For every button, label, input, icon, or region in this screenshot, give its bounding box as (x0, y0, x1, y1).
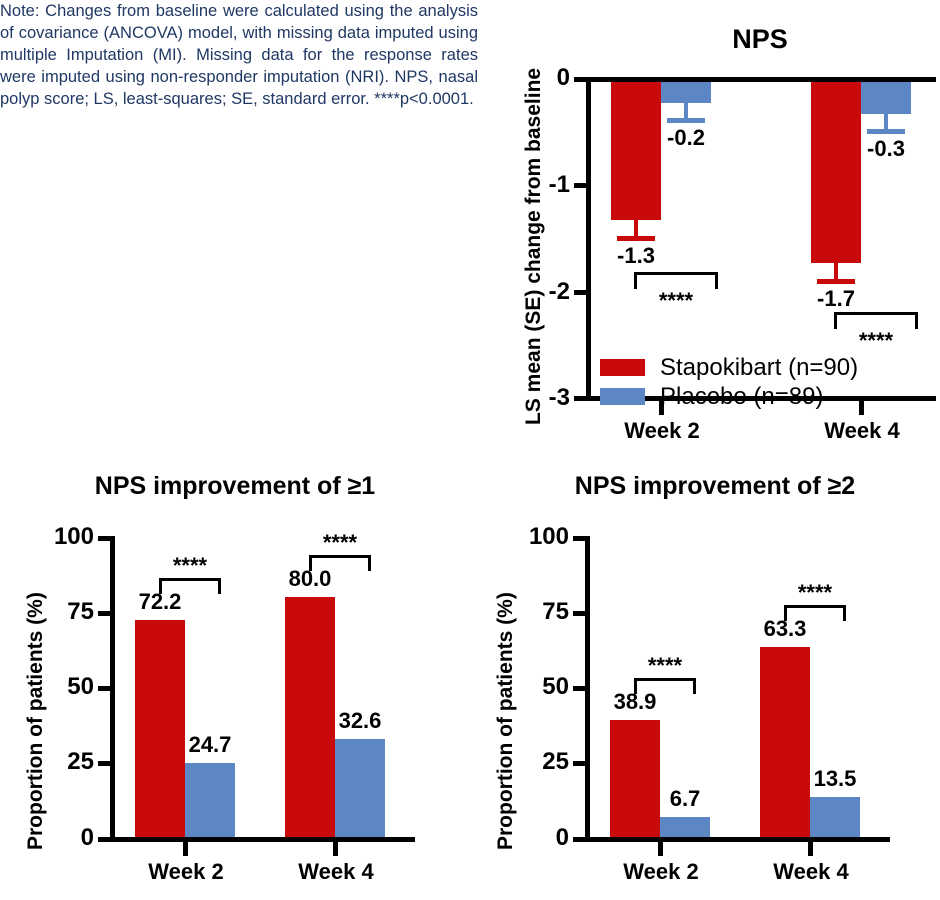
chart-nps-improvement-2-xtick-week4 (808, 842, 813, 856)
chart-nps-improvement-1-xtick-label-week2: Week 2 (116, 859, 256, 885)
chart-nps-improvement-2-xtick-label-week4: Week 4 (741, 859, 881, 885)
legend-swatch-stapokibart (600, 359, 645, 376)
significance-stars-improve2-week2: **** (625, 653, 705, 679)
legend-item-placebo[interactable]: Placebo (n=89) (600, 384, 860, 410)
bar-value-nps-week2-stapokibart: -1.3 (596, 243, 676, 269)
significance-bracket-improve2-week2 (634, 678, 696, 694)
chart-nps-xtick-label-week2: Week 2 (592, 418, 732, 444)
chart-nps-ytick-label-0: 0 (524, 64, 570, 92)
bar-improve2-week2-placebo[interactable] (660, 817, 710, 837)
bracket-leg-right (915, 312, 918, 329)
bar-nps-week2-stapokibart[interactable] (611, 82, 661, 220)
bracket-leg-left (309, 555, 312, 571)
bar-improve2-week4-stapokibart[interactable] (760, 647, 810, 837)
bar-value-improve2-week2-placebo: 6.7 (645, 786, 725, 812)
bar-improve1-week2-placebo[interactable] (185, 763, 235, 837)
bar-improve1-week4-placebo[interactable] (335, 739, 385, 837)
bar-value-nps-week4-stapokibart: -1.7 (796, 286, 876, 312)
errorbar-cap-nps-week2-stapokibart (617, 236, 655, 241)
legend-label-stapokibart: Stapokibart (n=90) (660, 354, 858, 382)
chart-nps-ytick-minus3 (574, 396, 587, 401)
chart-nps-ytick-label-3: -3 (524, 384, 570, 412)
figure-note: Note: Changes from baseline were calcula… (0, 0, 478, 110)
bracket-leg-right (368, 555, 371, 571)
chart-nps-improvement-2-title: NPS improvement of ≥2 (515, 472, 915, 501)
significance-stars-improve1-week4: **** (300, 530, 380, 556)
bracket-leg-right (843, 605, 846, 621)
chart-nps-improvement-2-xtick-label-week2: Week 2 (591, 859, 731, 885)
chart-nps-improvement-2-x-axis (585, 837, 890, 842)
chart-nps-improvement-1-yaxis-title: Proportion of patients (%) (24, 592, 48, 850)
chart-nps-y-axis (586, 80, 591, 400)
chart-nps-improvement-1-ytick-25 (98, 761, 111, 766)
significance-bracket-improve1-week2 (159, 578, 221, 594)
chart-nps-title: NPS (660, 24, 860, 55)
chart-nps-improvement-2: NPS improvement of ≥2 Proportion of pati… (470, 460, 940, 900)
chart-nps-improvement-1-ytick-label-0: 0 (30, 824, 94, 852)
chart-nps-improvement-1-xtick-label-week4: Week 4 (266, 859, 406, 885)
significance-bracket-improve1-week4 (309, 555, 371, 571)
chart-nps-improvement-2-ytick-75 (573, 611, 586, 616)
chart-nps-ytick-minus2 (574, 290, 587, 295)
chart-nps-improvement-2-ytick-50 (573, 686, 586, 691)
chart-nps-improvement-2-ytick-100 (573, 536, 586, 541)
bracket-leg-right (715, 272, 718, 289)
bar-value-nps-week4-placebo: -0.3 (846, 136, 926, 162)
chart-nps-improvement-2-ytick-label-25: 25 (505, 748, 569, 776)
significance-stars-improve1-week2: **** (150, 553, 230, 579)
chart-nps-yaxis-title: LS mean (SE) change from baseline (522, 68, 546, 425)
significance-bracket-nps-week2 (634, 272, 718, 289)
bracket-rail (634, 272, 718, 275)
chart-nps-improvement-1-ytick-label-50: 50 (30, 673, 94, 701)
chart-nps-ytick-0 (574, 77, 587, 82)
legend-swatch-placebo (600, 388, 645, 405)
chart-nps-improvement-1-ytick-100 (98, 536, 111, 541)
chart-nps-improvement-1-ytick-label-75: 75 (30, 598, 94, 626)
chart-nps-improvement-1-x-axis (110, 837, 415, 842)
chart-nps-improvement-1-ytick-50 (98, 686, 111, 691)
chart-nps-improvement-2-ytick-label-0: 0 (505, 824, 569, 852)
errorbar-cap-nps-week4-placebo (867, 129, 905, 134)
chart-nps-improvement-2-ytick-25 (573, 761, 586, 766)
bar-value-improve1-week4-placebo: 32.6 (320, 708, 400, 734)
chart-nps-improvement-2-ytick-label-50: 50 (505, 673, 569, 701)
bracket-leg-left (834, 312, 837, 329)
chart-nps-xtick-label-week4: Week 4 (792, 418, 932, 444)
bracket-leg-right (218, 578, 221, 594)
bar-nps-week4-stapokibart[interactable] (811, 82, 861, 263)
bar-improve2-week2-stapokibart[interactable] (610, 720, 660, 837)
chart-nps-ytick-minus1 (574, 183, 587, 188)
chart-nps-improvement-2-ytick-label-100: 100 (505, 523, 569, 551)
significance-stars-nps-week4: **** (836, 328, 916, 354)
chart-nps: NPS LS mean (SE) change from baseline 0 … (500, 10, 940, 450)
chart-nps-improvement-1-xtick-week4 (333, 842, 338, 856)
bar-nps-week4-placebo[interactable] (861, 82, 911, 114)
chart-nps-improvement-1: NPS improvement of ≥1 Proportion of pati… (0, 460, 470, 900)
chart-nps-ytick-label-2: -2 (524, 278, 570, 306)
chart-nps-improvement-1-ytick-label-25: 25 (30, 748, 94, 776)
bracket-leg-left (634, 272, 637, 289)
significance-bracket-improve2-week4 (784, 605, 846, 621)
chart-nps-improvement-1-ytick-label-100: 100 (30, 523, 94, 551)
chart-nps-improvement-2-ytick-0 (573, 837, 586, 842)
bracket-leg-left (784, 605, 787, 621)
bracket-leg-left (159, 578, 162, 594)
legend-item-stapokibart[interactable]: Stapokibart (n=90) (600, 355, 860, 381)
bracket-leg-right (693, 678, 696, 694)
errorbar-cap-nps-week2-placebo (667, 118, 705, 123)
significance-bracket-nps-week4 (834, 312, 918, 329)
bracket-leg-left (634, 678, 637, 694)
bar-nps-week2-placebo[interactable] (661, 82, 711, 103)
chart-nps-improvement-1-xtick-week2 (183, 842, 188, 856)
legend-label-placebo: Placebo (n=89) (660, 383, 823, 411)
significance-stars-nps-week2: **** (636, 288, 716, 314)
chart-nps-ytick-label-1: -1 (524, 171, 570, 199)
bar-value-improve2-week4-placebo: 13.5 (795, 766, 875, 792)
chart-nps-improvement-1-title: NPS improvement of ≥1 (35, 472, 435, 501)
chart-nps-improvement-2-yaxis-title: Proportion of patients (%) (494, 592, 518, 850)
bar-improve2-week4-placebo[interactable] (810, 797, 860, 837)
errorbar-cap-nps-week4-stapokibart (817, 279, 855, 284)
bar-value-improve1-week2-placebo: 24.7 (170, 732, 250, 758)
significance-stars-improve2-week4: **** (775, 580, 855, 606)
chart-nps-improvement-1-ytick-0 (98, 837, 111, 842)
bracket-rail (834, 312, 918, 315)
chart-nps-improvement-2-ytick-label-75: 75 (505, 598, 569, 626)
bar-improve1-week2-stapokibart[interactable] (135, 620, 185, 837)
chart-nps-improvement-1-ytick-75 (98, 611, 111, 616)
chart-nps-improvement-2-xtick-week2 (658, 842, 663, 856)
bar-value-nps-week2-placebo: -0.2 (646, 125, 726, 151)
